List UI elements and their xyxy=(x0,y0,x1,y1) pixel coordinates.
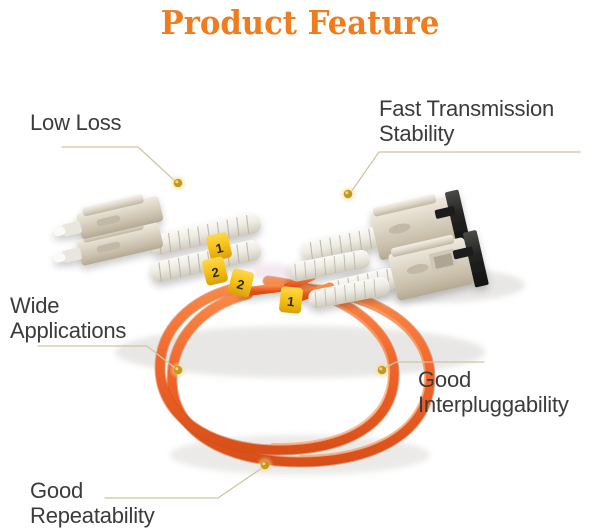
callout-label-wide-applications: Wide Applications xyxy=(10,293,126,343)
marker-highlight-fast-transmission-stability xyxy=(345,191,348,194)
callout-label-low-loss: Low Loss xyxy=(30,110,121,135)
marker-highlight-wide-applications xyxy=(175,367,178,370)
marker-highlight-good-interpluggability xyxy=(379,367,382,370)
leader-line-low-loss xyxy=(62,147,175,181)
marker-dot-low-loss xyxy=(174,179,183,188)
marker-dot-wide-applications xyxy=(174,366,183,375)
leader-line-wide-applications xyxy=(38,346,175,368)
callout-label-good-repeatability: Good Repeatability xyxy=(30,478,155,528)
marker-dot-good-repeatability xyxy=(261,461,270,470)
callout-label-good-interpluggability: Good Interpluggability xyxy=(418,367,569,417)
marker-highlight-good-repeatability xyxy=(262,462,265,465)
leader-dot-group xyxy=(169,174,391,474)
marker-dot-fast-transmission-stability xyxy=(344,190,353,199)
marker-dot-good-interpluggability xyxy=(378,366,387,375)
product-feature-infographic: Product Feature xyxy=(0,0,600,531)
marker-highlight-low-loss xyxy=(175,180,178,183)
callout-label-fast-transmission-stability: Fast Transmission Stability xyxy=(379,96,554,146)
leader-line-fast-transmission-stability xyxy=(351,152,580,192)
callout-leader-lines xyxy=(0,0,600,531)
